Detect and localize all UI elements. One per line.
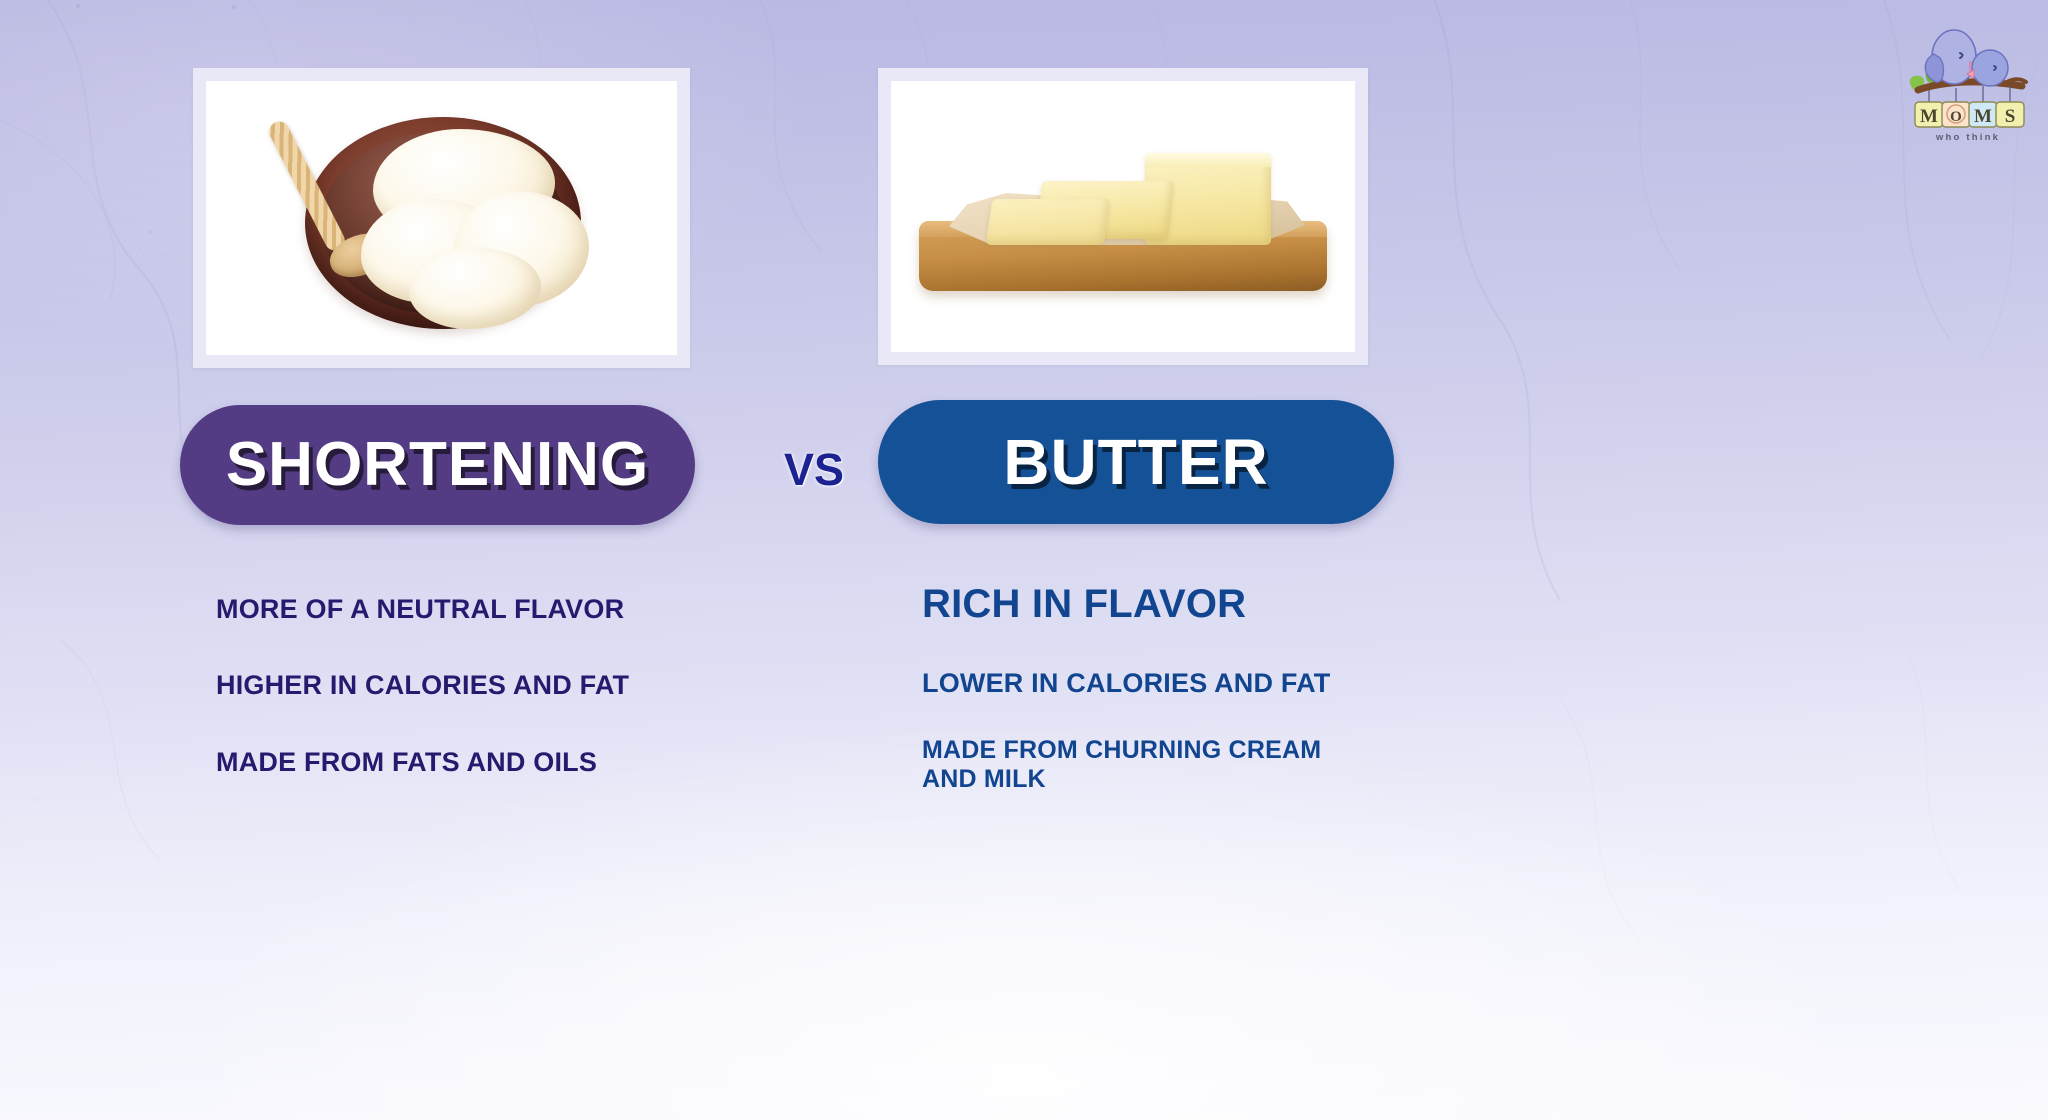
versus-text: VS bbox=[784, 444, 844, 496]
svg-text:M: M bbox=[1974, 106, 1992, 127]
butter-title-label: BUTTER bbox=[1003, 430, 1269, 494]
shortening-photo bbox=[206, 81, 677, 355]
shortening-title-pill: SHORTENING bbox=[180, 405, 695, 525]
butter-photo-frame bbox=[878, 68, 1368, 365]
feature-item: MADE FROM CHURNING CREAM AND MILK bbox=[922, 736, 1352, 794]
feature-item: HIGHER IN CALORIES AND FAT bbox=[216, 670, 629, 701]
shortening-title-label: SHORTENING bbox=[226, 434, 649, 496]
svg-text:M: M bbox=[1920, 106, 1938, 127]
butter-photo bbox=[891, 81, 1355, 352]
versus-label: VS bbox=[749, 440, 879, 500]
moms-who-think-logo[interactable]: M O M S who think bbox=[1904, 20, 2032, 142]
feature-item: MORE OF A NEUTRAL FLAVOR bbox=[216, 594, 624, 625]
svg-text:O: O bbox=[1950, 109, 1962, 125]
butter-title-pill: BUTTER bbox=[878, 400, 1394, 524]
logo-letter-blocks: M O M S bbox=[1915, 102, 2024, 127]
butter-illustration bbox=[913, 135, 1333, 325]
shortening-bowl-illustration bbox=[277, 107, 607, 339]
logo-tagline: who think bbox=[1904, 132, 2032, 143]
feature-item: LOWER IN CALORIES AND FAT bbox=[922, 668, 1330, 699]
svg-text:S: S bbox=[2005, 106, 2016, 127]
shortening-scoop bbox=[409, 247, 541, 329]
feature-item: RICH IN FLAVOR bbox=[922, 581, 1246, 627]
shortening-photo-frame bbox=[193, 68, 690, 368]
logo-birds-on-branch-icon: M O M S bbox=[1904, 20, 2032, 136]
butter-stick bbox=[986, 199, 1110, 245]
feature-item: MADE FROM FATS AND OILS bbox=[216, 747, 597, 778]
